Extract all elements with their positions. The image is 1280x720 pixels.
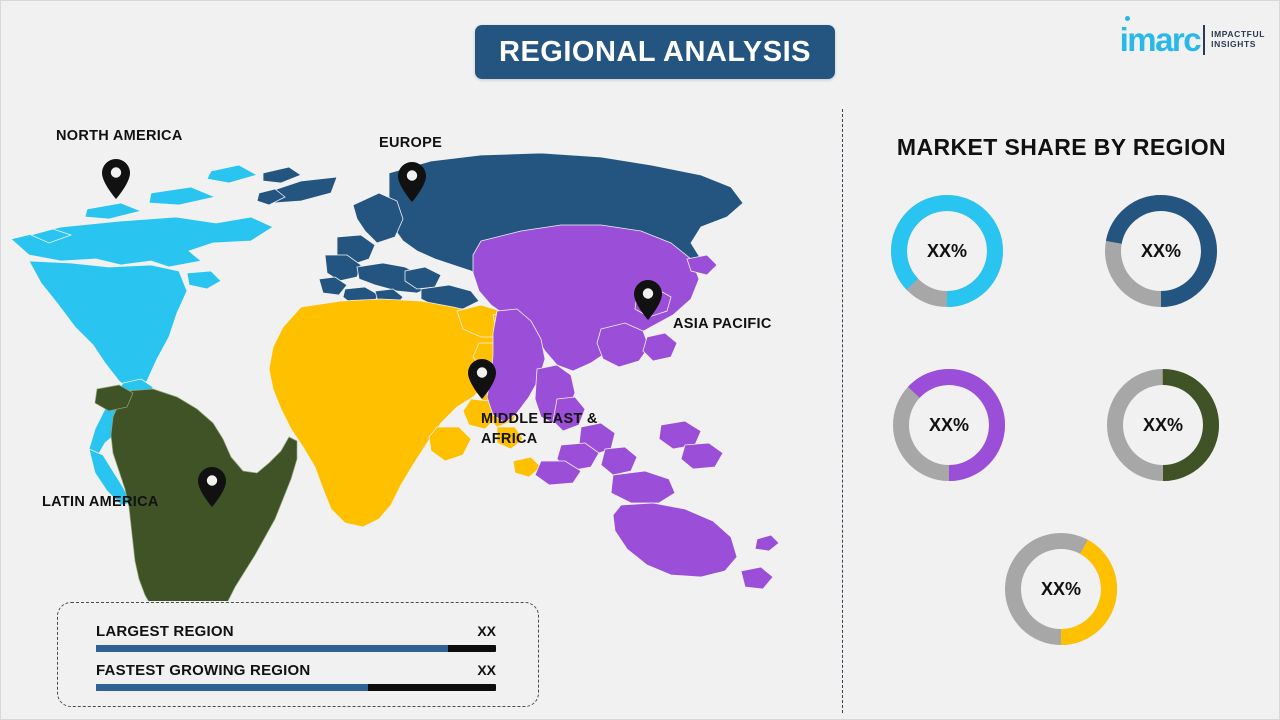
legend-label-largest-region: LARGEST REGION: [96, 623, 234, 640]
donut-value-label: XX%: [1103, 365, 1223, 485]
donut-value-label: XX%: [887, 191, 1007, 311]
map-pin-asia-pacific-icon: [633, 280, 663, 320]
donut-value-label: XX%: [889, 365, 1009, 485]
region-ranking-legend: LARGEST REGION XX FASTEST GROWING REGION…: [57, 602, 539, 707]
map-pin-europe-icon: [397, 162, 427, 202]
legend-value-largest-region: XX: [477, 623, 496, 639]
section-divider: [842, 109, 843, 713]
donut-chart-europe: XX%: [1101, 191, 1221, 311]
donut-chart-middle-east-africa: XX%: [1001, 529, 1121, 649]
donut-chart-north-america: XX%: [887, 191, 1007, 311]
legend-row-fastest-growing-region: FASTEST GROWING REGION XX: [96, 662, 496, 691]
legend-bar-largest-region: [96, 645, 496, 652]
map-label-north-america: NORTH AMERICA: [56, 127, 183, 147]
legend-bar-fill-largest-region: [96, 645, 448, 652]
legend-row-largest-region: LARGEST REGION XX: [96, 623, 496, 652]
page-title-text: REGIONAL ANALYSIS: [499, 36, 811, 69]
donut-value-label: XX%: [1001, 529, 1121, 649]
logo-wordmark: imarc: [1120, 23, 1201, 56]
logo-tagline: IMPACTFUL INSIGHTS: [1211, 30, 1265, 50]
logo-tagline-line2: INSIGHTS: [1211, 40, 1265, 50]
imarc-logo: imarc IMPACTFUL INSIGHTS: [1120, 23, 1265, 56]
legend-label-fastest-growing-region: FASTEST GROWING REGION: [96, 662, 310, 679]
donut-chart-asia-pacific: XX%: [889, 365, 1009, 485]
map-label-middle-east-africa: MIDDLE EAST & AFRICA: [481, 410, 598, 449]
legend-bar-fastest-growing-region: [96, 684, 496, 691]
map-pin-latin-america-icon: [197, 467, 227, 507]
page-title: REGIONAL ANALYSIS: [475, 25, 835, 79]
map-region-asia-pacific: [473, 225, 779, 589]
map-label-latin-america: LATIN AMERICA: [42, 493, 159, 513]
map-pin-middle-east-africa-icon: [467, 359, 497, 399]
map-pin-north-america-icon: [101, 159, 131, 199]
market-share-panel-title: MARKET SHARE BY REGION: [842, 134, 1280, 161]
donut-value-label: XX%: [1101, 191, 1221, 311]
logo-divider: [1203, 25, 1205, 55]
donut-chart-latin-america: XX%: [1103, 365, 1223, 485]
legend-value-fastest-growing-region: XX: [477, 662, 496, 678]
map-label-europe: EUROPE: [379, 134, 442, 154]
infographic-canvas: REGIONAL ANALYSIS imarc IMPACTFUL INSIGH…: [1, 1, 1279, 719]
logo-dot-icon: [1125, 16, 1130, 21]
legend-bar-fill-fastest-growing-region: [96, 684, 368, 691]
map-label-asia-pacific: ASIA PACIFIC: [673, 315, 772, 335]
